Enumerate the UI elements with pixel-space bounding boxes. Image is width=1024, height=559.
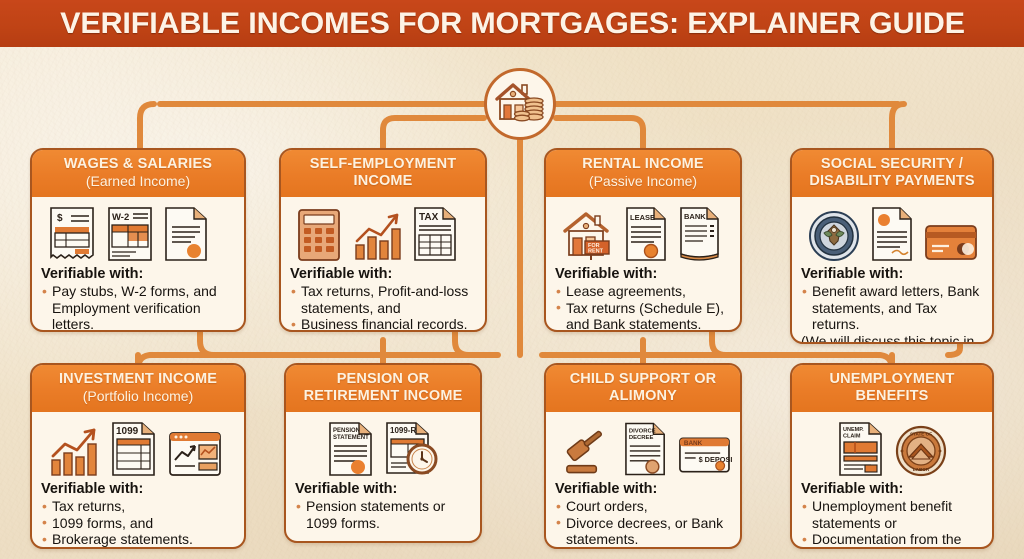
- card-title: WAGES & SALARIES: [38, 156, 238, 173]
- icon-row: FOR RENT LEASE: [555, 203, 732, 263]
- list-item: Tax returns,: [41, 498, 236, 515]
- verifiable-label: Verifiable with:: [41, 481, 236, 497]
- brokerage-dashboard-icon: [167, 430, 223, 478]
- card-social-security-disability[interactable]: SOCIAL SECURITY / DISABILITY PAYMENTS: [790, 148, 994, 344]
- svg-text:STATE OF: STATE OF: [910, 432, 932, 437]
- svg-text:PENSION: PENSION: [333, 428, 360, 434]
- card-body: DIVORCE DECREE BANK $ DEPOSIT: [546, 412, 740, 549]
- bullet-list: Tax returns, 1099 forms, and Brokerage s…: [41, 498, 236, 548]
- card-investment-income[interactable]: INVESTMENT INCOME (Portfolio Income): [30, 363, 246, 549]
- svg-text:1099: 1099: [116, 426, 139, 437]
- card-header: PENSION OR RETIREMENT INCOME: [286, 365, 480, 412]
- verifiable-label: Verifiable with:: [555, 481, 732, 497]
- verifiable-label: Verifiable with:: [41, 266, 236, 282]
- svg-text:BANK: BANK: [684, 212, 706, 221]
- government-seal-icon: [807, 209, 861, 263]
- svg-text:W-2: W-2: [112, 212, 129, 223]
- verifiable-label: Verifiable with:: [555, 266, 732, 282]
- house-with-coins-icon: [494, 81, 546, 127]
- list-item: Business financial records.: [290, 316, 477, 332]
- svg-text:DIVORCE: DIVORCE: [629, 428, 656, 434]
- card-title: PENSION OR RETIREMENT INCOME: [292, 371, 474, 405]
- gavel-icon: [561, 424, 614, 478]
- card-wages-salaries[interactable]: WAGES & SALARIES (Earned Income) $: [30, 148, 246, 332]
- svg-text:$ DEPOSIT: $ DEPOSIT: [699, 455, 732, 464]
- card-subtitle: (Earned Income): [38, 173, 238, 190]
- card-body: TAX Verifiable with: Tax returns, Profit…: [281, 197, 485, 332]
- icon-row: UNEMP. CLAIM STATE OF LABOR: [801, 418, 984, 478]
- list-item: Pay stubs, W-2 forms, and Employment ver…: [41, 283, 236, 332]
- bullet-list: Benefit award letters, Bank statements, …: [801, 283, 984, 344]
- card-title: INVESTMENT INCOME: [38, 371, 238, 388]
- svg-text:CLAIM: CLAIM: [843, 434, 861, 440]
- bullet-list: Court orders, Divorce decrees, or Bank s…: [555, 498, 732, 548]
- svg-text:BANK: BANK: [684, 440, 703, 447]
- icon-row: PENSION STATEMENT 1099-R: [295, 418, 472, 478]
- bank-deposit-icon: BANK $ DEPOSIT: [677, 434, 732, 478]
- card-note: (We will discuss this topic in a separat…: [801, 333, 984, 345]
- card-body: Verifiable with: Benefit award letters, …: [792, 197, 992, 344]
- icon-row: TAX: [290, 203, 477, 263]
- card-subtitle: (Passive Income): [552, 173, 734, 190]
- svg-text:$: $: [57, 213, 63, 224]
- bank-statement-icon: BANK: [677, 205, 723, 263]
- card-body: $ W-2: [32, 197, 244, 332]
- card-body: PENSION STATEMENT 1099-R: [286, 412, 480, 541]
- list-item: Tax returns, Profit-and-loss statements,…: [290, 283, 477, 316]
- card-title: SOCIAL SECURITY / DISABILITY PAYMENTS: [798, 156, 986, 190]
- svg-text:STATEMENT: STATEMENT: [333, 435, 369, 441]
- form-1099-icon: 1099: [110, 420, 158, 478]
- icon-row: $ W-2: [41, 203, 236, 263]
- pension-statement-icon: PENSION STATEMENT: [327, 420, 375, 478]
- tax-document-icon: TAX: [412, 205, 458, 263]
- pay-stub-icon: $: [47, 205, 97, 263]
- icon-row: DIVORCE DECREE BANK $ DEPOSIT: [555, 418, 732, 478]
- calculator-icon: [296, 207, 342, 263]
- list-item: Tax returns (Schedule E), and Bank state…: [555, 300, 732, 333]
- list-item: Pension statements or 1099 forms.: [295, 498, 472, 531]
- house-for-rent-icon: FOR RENT: [561, 207, 615, 263]
- bullet-list: Pension statements or 1099 forms.: [295, 498, 472, 531]
- verifiable-label: Verifiable with:: [801, 266, 984, 282]
- svg-text:LABOR: LABOR: [913, 467, 930, 472]
- card-rental-income[interactable]: RENTAL INCOME (Passive Income) FOR RENT: [544, 148, 742, 332]
- growth-chart-icon: [351, 207, 403, 263]
- title-banner: VERIFIABLE INCOMES FOR MORTGAGES: EXPLAI…: [0, 0, 1024, 47]
- card-header: SELF-EMPLOYMENT INCOME: [281, 150, 485, 197]
- icon-row: 1099: [41, 418, 236, 478]
- verifiable-label: Verifiable with:: [295, 481, 472, 497]
- svg-text:DECREE: DECREE: [629, 435, 654, 441]
- svg-text:UNEMP.: UNEMP.: [843, 427, 864, 433]
- verification-letter-icon: [163, 205, 209, 263]
- list-item: Documentation from the state agency.: [801, 531, 984, 549]
- central-hub: [484, 68, 556, 140]
- card-header: RENTAL INCOME (Passive Income): [546, 150, 740, 197]
- svg-text:1099-R: 1099-R: [390, 426, 416, 435]
- card-child-support-alimony[interactable]: CHILD SUPPORT OR ALIMONY DIVORCE DECREE: [544, 363, 742, 549]
- list-item: Unemployment benefit statements or: [801, 498, 984, 531]
- w2-form-icon: W-2: [106, 205, 154, 263]
- list-item: Brokerage statements.: [41, 531, 236, 548]
- card-body: UNEMP. CLAIM STATE OF LABOR: [792, 412, 992, 549]
- verifiable-label: Verifiable with:: [801, 481, 984, 497]
- card-body: 1099: [32, 412, 244, 549]
- icon-row: [801, 203, 984, 263]
- infographic-poster: VERIFIABLE INCOMES FOR MORTGAGES: EXPLAI…: [0, 0, 1024, 559]
- form-1099r-clock-icon: 1099-R: [384, 420, 440, 478]
- bullet-list: Lease agreements, Tax returns (Schedule …: [555, 283, 732, 332]
- svg-text:RENT: RENT: [588, 249, 604, 255]
- list-item: Lease agreements,: [555, 283, 732, 300]
- award-letter-icon: [870, 205, 914, 263]
- card-unemployment-benefits[interactable]: UNEMPLOYMENT BENEFITS UNEMP. CLAIM: [790, 363, 994, 549]
- svg-text:LEASE: LEASE: [630, 213, 655, 222]
- card-self-employment-income[interactable]: SELF-EMPLOYMENT INCOME: [279, 148, 487, 332]
- card-header: WAGES & SALARIES (Earned Income): [32, 150, 244, 197]
- card-title: RENTAL INCOME: [552, 156, 734, 173]
- list-item: Benefit award letters, Bank statements, …: [801, 283, 984, 333]
- bullet-list: Pay stubs, W-2 forms, and Employment ver…: [41, 283, 236, 332]
- card-title: CHILD SUPPORT OR ALIMONY: [552, 371, 734, 405]
- payment-card-icon: [923, 221, 979, 263]
- card-header: UNEMPLOYMENT BENEFITS: [792, 365, 992, 412]
- list-item: Court orders,: [555, 498, 732, 515]
- card-body: FOR RENT LEASE: [546, 197, 740, 332]
- card-title: UNEMPLOYMENT BENEFITS: [798, 371, 986, 405]
- growth-chart-icon: [47, 422, 101, 478]
- page-title: VERIFIABLE INCOMES FOR MORTGAGES: EXPLAI…: [60, 7, 965, 41]
- card-subtitle: (Portfolio Income): [38, 388, 238, 405]
- card-header: CHILD SUPPORT OR ALIMONY: [546, 365, 740, 412]
- divorce-decree-icon: DIVORCE DECREE: [623, 420, 668, 478]
- unemployment-claim-icon: UNEMP. CLAIM: [837, 420, 885, 478]
- verifiable-label: Verifiable with:: [290, 266, 477, 282]
- bullet-list: Unemployment benefit statements or Docum…: [801, 498, 984, 549]
- svg-text:TAX: TAX: [419, 212, 439, 223]
- list-item: Divorce decrees, or Bank statements.: [555, 515, 732, 548]
- card-pension-retirement-income[interactable]: PENSION OR RETIREMENT INCOME PENSION STA…: [284, 363, 482, 543]
- state-agency-seal-icon: STATE OF LABOR: [894, 424, 948, 478]
- card-header: SOCIAL SECURITY / DISABILITY PAYMENTS: [792, 150, 992, 197]
- lease-document-icon: LEASE: [624, 205, 668, 263]
- list-item: 1099 forms, and: [41, 515, 236, 532]
- card-header: INVESTMENT INCOME (Portfolio Income): [32, 365, 244, 412]
- bullet-list: Tax returns, Profit-and-loss statements,…: [290, 283, 477, 332]
- card-title: SELF-EMPLOYMENT INCOME: [287, 156, 479, 190]
